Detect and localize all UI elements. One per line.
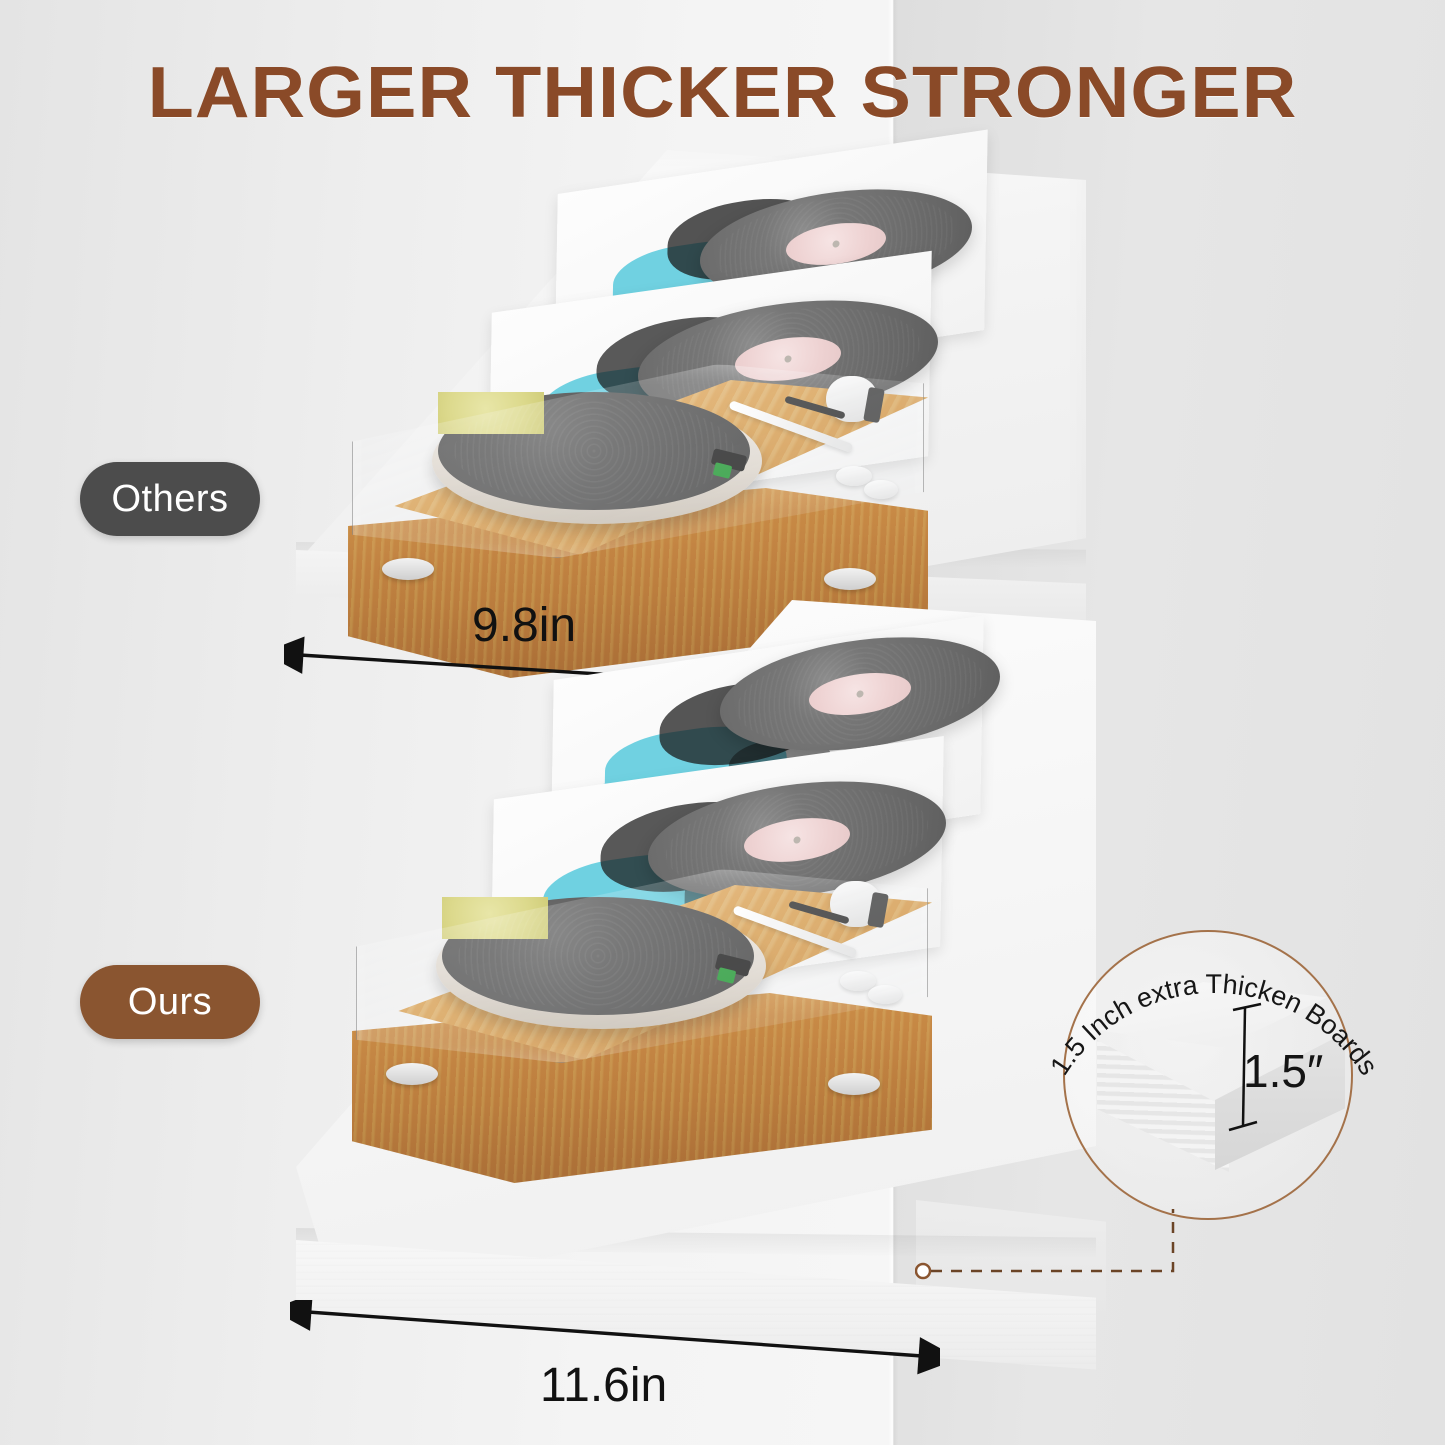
connector-anchor-dot xyxy=(916,1264,930,1278)
turntable-foot xyxy=(386,1063,438,1085)
badge-ours-label: Ours xyxy=(128,981,212,1024)
callout-connector-line xyxy=(915,1195,1235,1305)
turntable-foot xyxy=(824,568,876,590)
svg-text:1.5 Inch extra Thicken Boards: 1.5 Inch extra Thicken Boards xyxy=(1044,969,1383,1080)
callout-curved-text: 1.5 Inch extra Thicken Boards xyxy=(1044,969,1383,1080)
dimension-label-11-6in: 11.6in xyxy=(540,1358,667,1413)
thickness-callout: 1.5″ 1.5 Inch extra Thicken Boards xyxy=(1063,930,1353,1220)
badge-ours: Ours xyxy=(80,965,260,1039)
turntable-foot xyxy=(828,1073,880,1095)
turntable xyxy=(352,875,932,1195)
turntable-foot xyxy=(382,558,434,580)
badge-others: Others xyxy=(80,462,260,536)
page-title: LARGER THICKER STRONGER xyxy=(0,52,1445,134)
product-infographic: LARGER THICKER STRONGER xyxy=(0,0,1445,1445)
connector-dashed-path xyxy=(931,1209,1173,1271)
badge-others-label: Others xyxy=(111,478,228,521)
dimension-11-6in: 11.6in xyxy=(290,1300,940,1430)
